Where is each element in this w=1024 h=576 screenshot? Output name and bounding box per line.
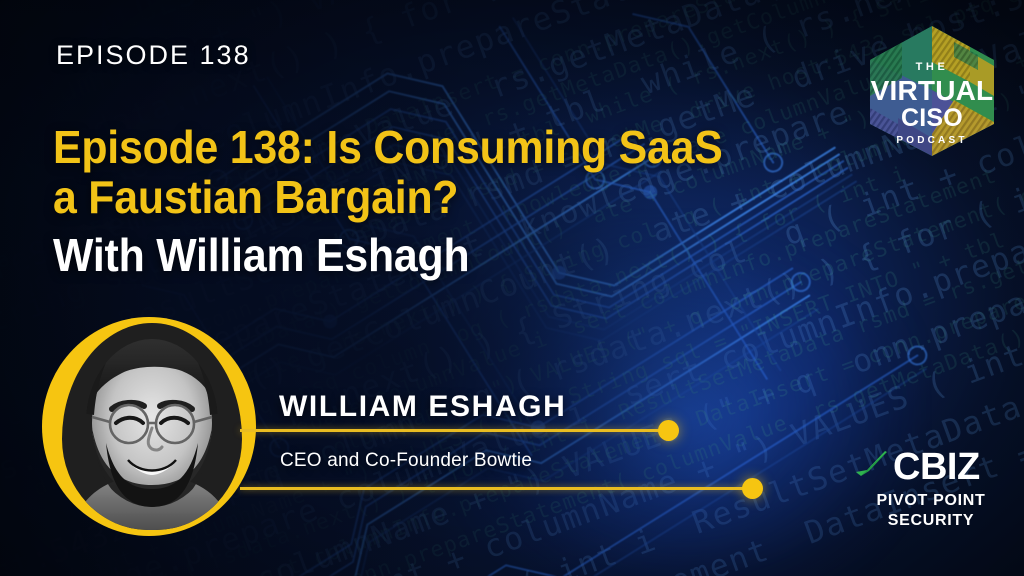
svg-text:THE: THE (916, 61, 949, 73)
divider-end-dot-bottom (742, 478, 763, 499)
name-divider-line-top (240, 429, 670, 432)
cbiz-green-swoosh-icon (855, 450, 889, 484)
episode-title-line-1: Episode 138: Is Consuming SaaS (53, 122, 741, 172)
divider-end-dot-top (658, 420, 679, 441)
cbiz-brand-row: CBIZ (855, 448, 1007, 486)
virtual-ciso-podcast-logo: THE VIRTUAL CISO PODCAST (858, 22, 1006, 158)
episode-number-kicker: EPISODE 138 (56, 40, 251, 71)
name-divider-line-bottom (240, 487, 754, 490)
cbiz-tagline: PIVOT POINT SECURITY (855, 491, 1007, 531)
guest-name: WILLIAM ESHAGH (279, 390, 566, 424)
cbiz-pivot-point-security-logo: CBIZ PIVOT POINT SECURITY (855, 448, 1007, 538)
guest-portrait (42, 317, 256, 536)
guest-role: CEO and Co-Founder Bowtie (280, 450, 532, 472)
cbiz-wordmark: CBIZ (893, 448, 980, 486)
podcast-episode-graphic: ate + columnName + ") VALUES (" + q onn.… (0, 0, 1024, 576)
svg-text:VIRTUAL: VIRTUAL (871, 75, 994, 106)
episode-title-block: Episode 138: Is Consuming SaaS a Faustia… (53, 122, 793, 280)
svg-text:CISO: CISO (901, 104, 963, 132)
svg-text:PODCAST: PODCAST (896, 135, 967, 146)
cbiz-tagline-line-1: PIVOT POINT (855, 491, 1007, 511)
episode-title-line-2: a Faustian Bargain? (53, 172, 741, 222)
episode-subtitle: With William Eshagh (53, 230, 741, 280)
cbiz-tagline-line-2: SECURITY (855, 511, 1007, 531)
